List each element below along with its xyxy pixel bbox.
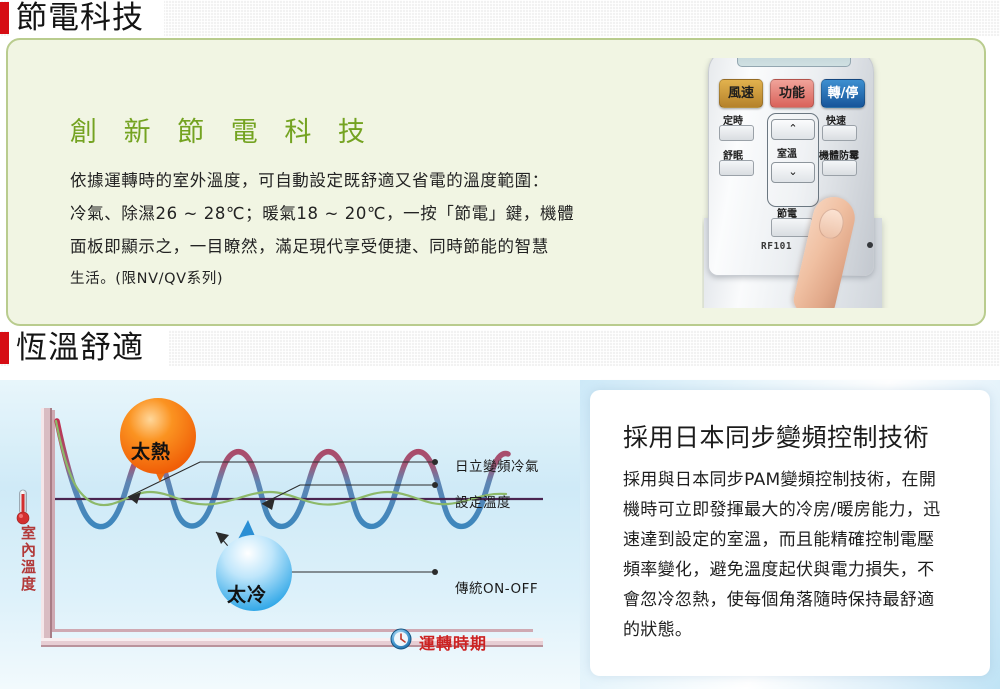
info-panel-title: 採用日本同步變頻控制技術 xyxy=(623,418,929,454)
thermometer-icon xyxy=(14,488,32,528)
remote-label-room-temp: 室溫 xyxy=(777,145,797,160)
chart-x-axis-label: 運轉時期 xyxy=(419,630,487,654)
bubble-label-too-cold: 太冷 xyxy=(227,580,267,607)
chart-callout-onoff: 傳統ON-OFF xyxy=(455,577,538,597)
header-red-accent-bar-2 xyxy=(0,332,9,364)
info-line-3: 速達到設定的室溫，而且能精確控制電壓 xyxy=(623,525,978,555)
body-line-4: 生活。(限NV/QV系列) xyxy=(70,263,680,296)
info-line-4: 頻率變化，避免溫度起伏與電力損失，不 xyxy=(623,555,978,585)
remote-ir-dot xyxy=(867,242,873,248)
panel-body-text: 依據運轉時的室外溫度，可自動設定既舒適又省電的溫度範圍： 冷氣、除濕26 ~ 2… xyxy=(70,164,680,296)
fingernail xyxy=(816,206,846,241)
header-red-accent-bar xyxy=(0,2,9,34)
remote-button-quick[interactable] xyxy=(822,125,857,141)
clock-icon xyxy=(390,628,412,650)
info-line-6: 的狀態。 xyxy=(623,615,978,645)
remote-button-temp-down[interactable]: ⌄ xyxy=(771,162,815,183)
info-line-5: 會忽冷忽熱，使每個角落隨時保持最舒適 xyxy=(623,585,978,615)
remote-button-function[interactable]: 功能 xyxy=(770,79,814,108)
info-line-1: 採用與日本同步PAM變頻控制技術，在開 xyxy=(623,465,978,495)
panel-title-innovative-tech: 創 新 節 電 科 技 xyxy=(70,110,374,149)
section-header-1: 節電科技 xyxy=(0,0,1000,38)
info-panel-body: 採用與日本同步PAM變頻控制技術，在開 機時可立即發揮最大的冷房/暖房能力，迅 … xyxy=(623,465,978,645)
energy-saving-panel: 創 新 節 電 科 技 依據運轉時的室外溫度，可自動設定既舒適又省電的溫度範圍：… xyxy=(6,38,986,326)
bubble-label-too-hot: 太熱 xyxy=(131,437,171,464)
body-line-1: 依據運轉時的室外溫度，可自動設定既舒適又省電的溫度範圍： xyxy=(70,164,680,197)
remote-lcd-screen: 溫度設定功 xyxy=(737,58,851,67)
chart-callout-inverter: 日立變頻冷氣 xyxy=(455,455,539,475)
chart-y-axis-label: 室內溫度 xyxy=(10,525,36,593)
body-line-2: 冷氣、除濕26 ~ 28℃；暖氣18 ~ 20℃，一按「節電」鍵，機體 xyxy=(70,197,680,230)
section-header-2: 恆溫舒適 xyxy=(0,330,1000,368)
info-line-2: 機時可立即發揮最大的冷房/暖房能力，迅 xyxy=(623,495,978,525)
remote-button-sleep[interactable] xyxy=(719,160,754,176)
chart-graphics xyxy=(0,380,580,689)
remote-button-anti-mold[interactable] xyxy=(822,160,857,176)
remote-button-fan-speed[interactable]: 風速 xyxy=(719,79,763,108)
pam-inverter-info-panel: 採用日本同步變頻控制技術 採用與日本同步PAM變頻控制技術，在開 機時可立即發揮… xyxy=(590,390,990,676)
remote-button-timer[interactable] xyxy=(719,125,754,141)
section-title-2: 恆溫舒適 xyxy=(16,329,144,367)
remote-control-photo: 溫度設定功 風速 功能 轉/停 定時 快速 舒眠 機體防霉 ⌃ 室溫 ⌄ 節電 … xyxy=(702,58,902,308)
body-line-3: 面板即顯示之，一目瞭然，滿足現代享受便捷、同時節能的智慧 xyxy=(70,230,680,263)
remote-model-number: RF101 xyxy=(761,241,792,252)
section-title-1: 節電科技 xyxy=(16,0,144,37)
remote-button-power[interactable]: 轉/停 xyxy=(821,79,865,108)
chart-callout-setpoint: 設定溫度 xyxy=(455,491,511,511)
remote-button-temp-up[interactable]: ⌃ xyxy=(771,119,815,140)
remote-button-power-save[interactable] xyxy=(771,218,813,237)
